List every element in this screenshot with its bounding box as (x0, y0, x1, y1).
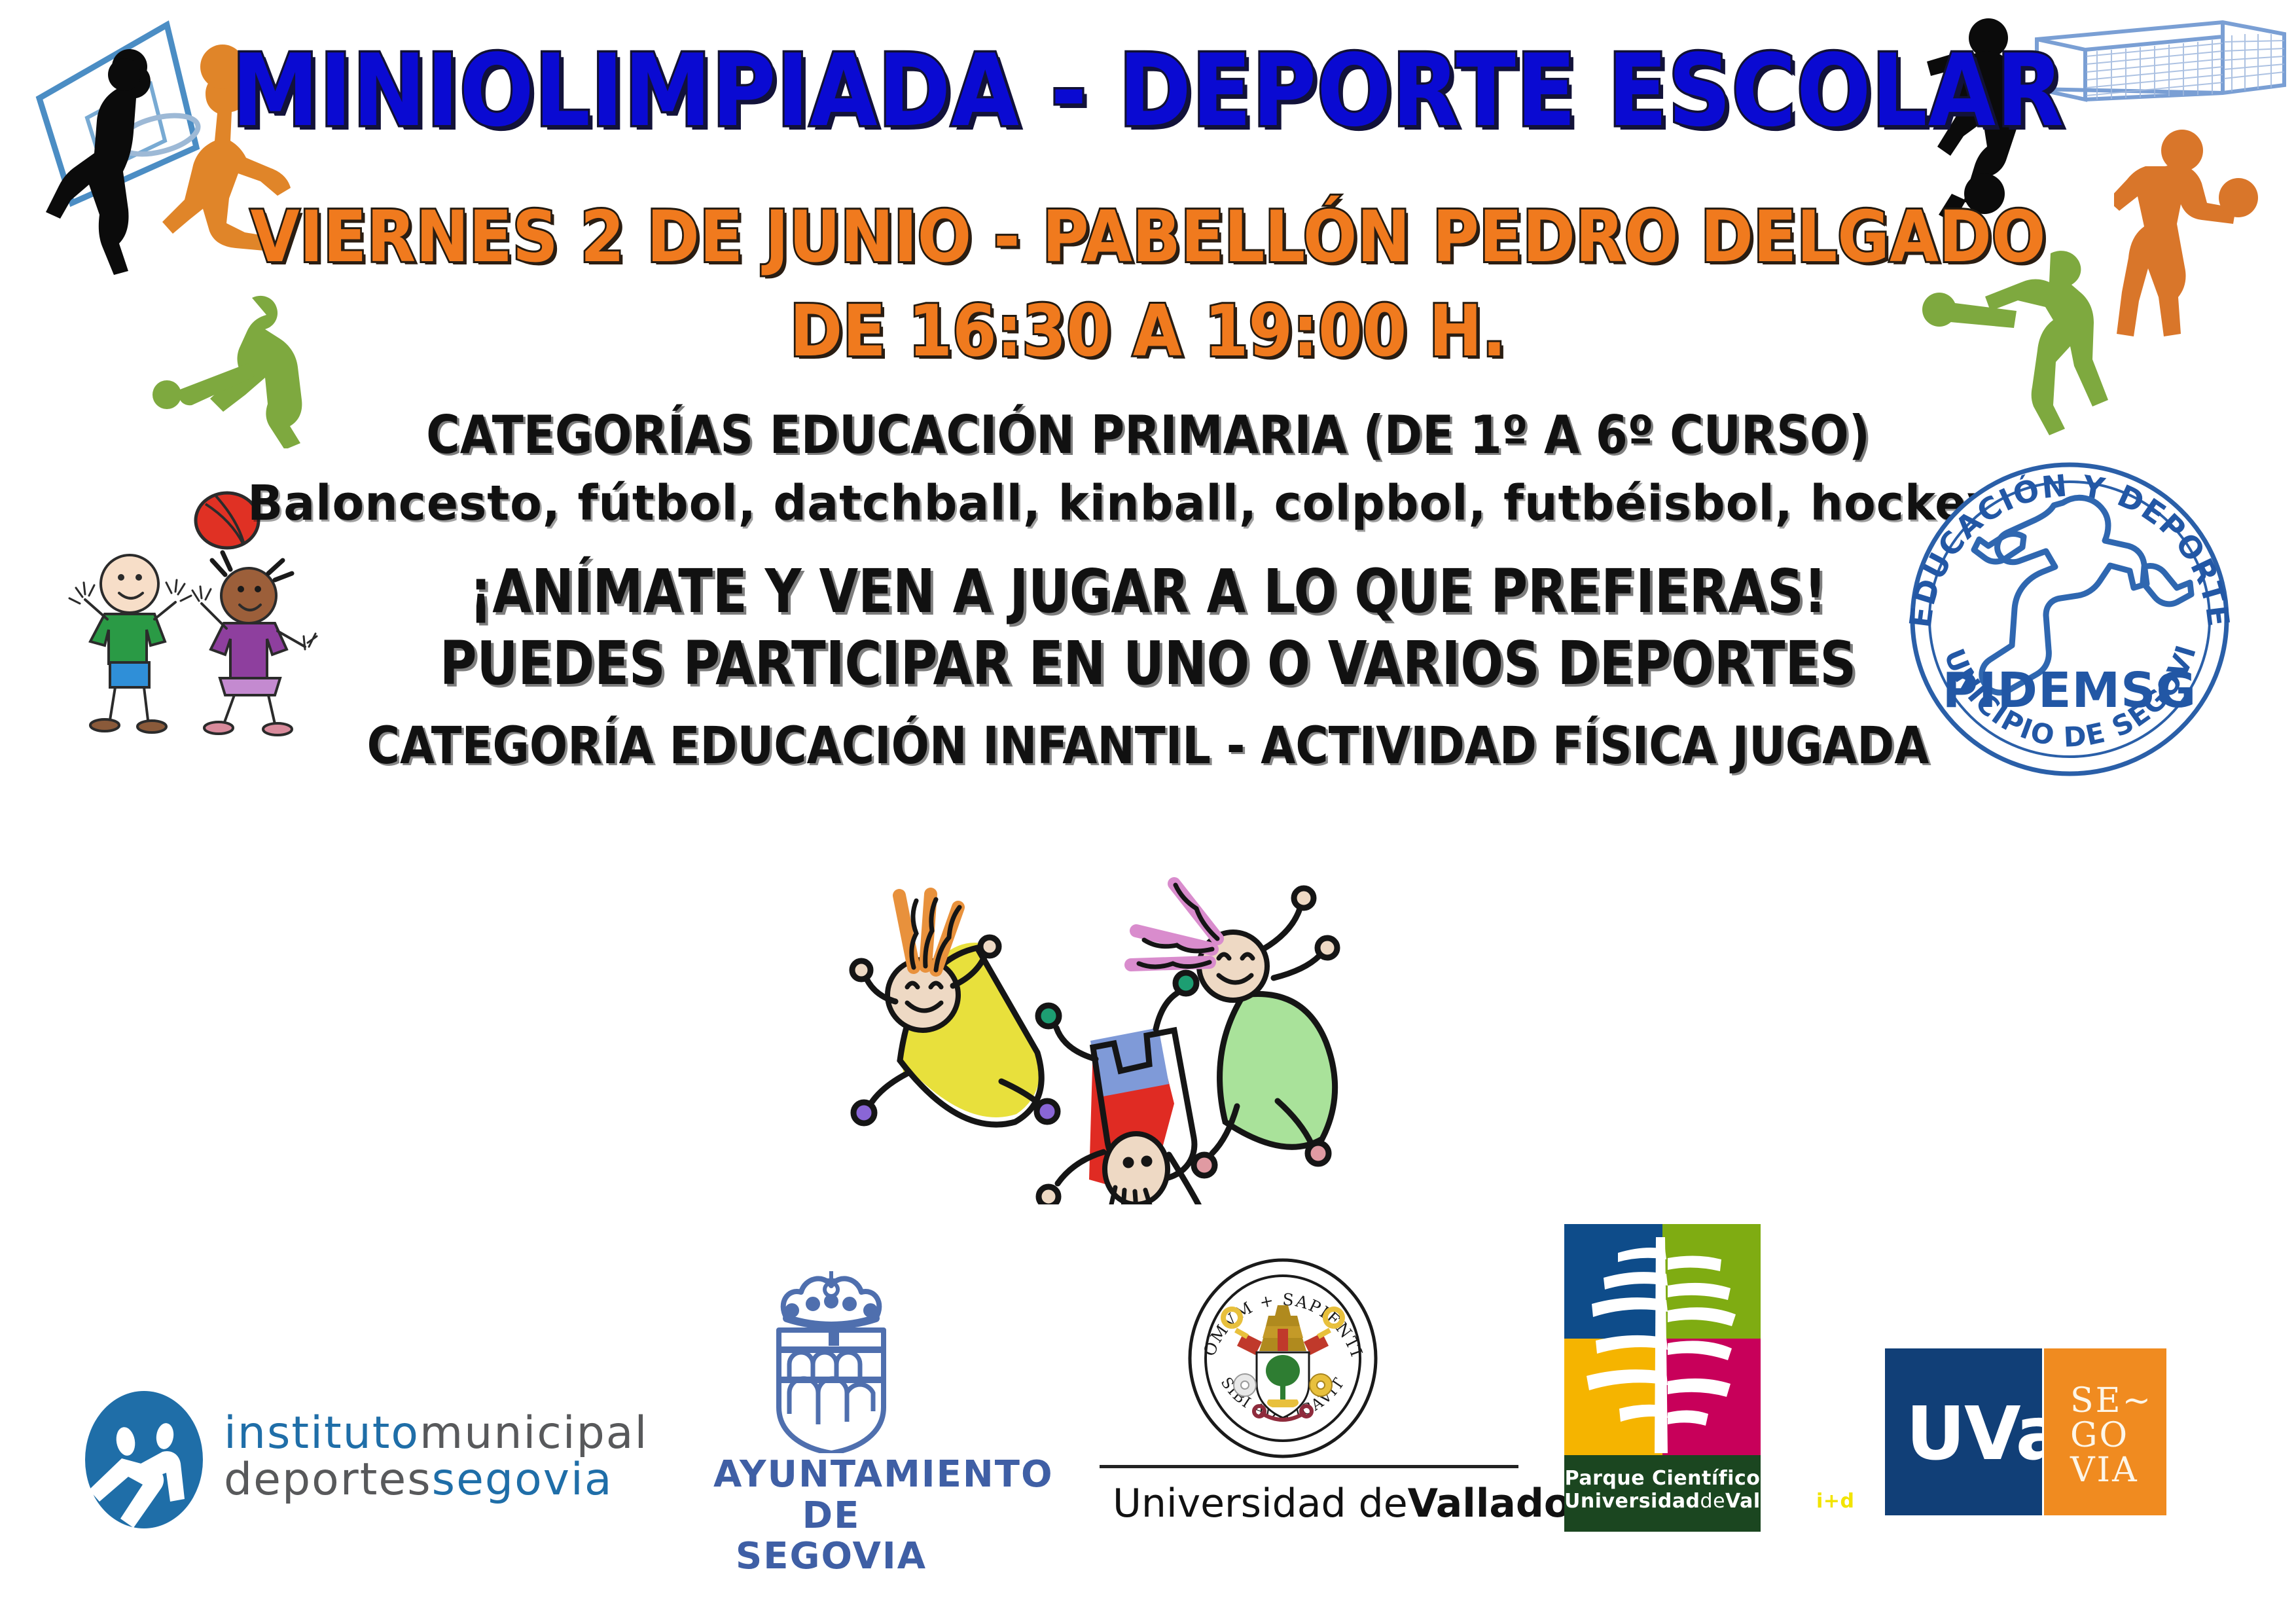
uva-segovia-segovia-label: SE~ GO VIA (2070, 1384, 2153, 1488)
uva-segovia-uva-label: UVa (1906, 1392, 2064, 1477)
imd-line1-instituto: instituto (224, 1407, 420, 1459)
sponsor-logo-row: institutomunicipal deportessegovia (0, 1218, 2296, 1623)
uva-segovia-seg-line2: GO (2070, 1418, 2153, 1453)
pc-line1: Parque Científico (1564, 1468, 1761, 1490)
ayuntamiento-line2: DE SEGOVIA (713, 1496, 949, 1578)
ayuntamiento-wordmark: AYUNTAMIENTO DE SEGOVIA (713, 1454, 949, 1578)
poster-canvas: MINIOLIMPIADA - DEPORTE ESCOLAR VIERNES … (0, 0, 2296, 1624)
category-infant-label: CATEGORÍA EDUCACIÓN INFANTIL - ACTIVIDAD… (137, 717, 2158, 776)
imd-line2-deportes: deportes (224, 1454, 432, 1506)
doodle-children (785, 799, 1374, 1204)
logo-uva-segovia: UVa SE~ GO VIA (1885, 1348, 2166, 1519)
event-date-venue: VIERNES 2 DE JUNIO - PABELLÓN PEDRO DELG… (115, 196, 2181, 278)
imd-wordmark: institutomunicipal deportessegovia (224, 1410, 648, 1504)
doodle-girl-yellow (852, 894, 1058, 1125)
pidemsg-center-label: PIDEMSG (1943, 662, 2197, 719)
uva-segovia-seg-line3: VIA (2070, 1453, 2153, 1488)
ayuntamiento-emblem-icon (740, 1263, 923, 1453)
call-to-action: ¡ANÍMATE Y VEN A JUGAR A LO QUE PREFIERA… (184, 556, 2113, 626)
logo-instituto-municipal-deportes-segovia: institutomunicipal deportessegovia (79, 1388, 628, 1532)
uva-segovia-seg-line1: SE~ (2070, 1384, 2153, 1418)
pidemsg-logo: EDUCACIÓN Y DEPORTE MUNICIPIO DE SEGOVIA… (1885, 445, 2251, 785)
logo-universidad-de-valladolid: DOMVM + SAPIENTIA SIBI ADIFICAVIT (1100, 1257, 1518, 1532)
pc-line2-a: Universidad (1564, 1490, 1700, 1513)
uva-wordmark-light: Universidad de (1113, 1481, 1408, 1526)
logo-parque-cientifico-uva: Parque Científico UniversidaddeValladoli… (1564, 1224, 1761, 1532)
page-title: MINIOLIMPIADA - DEPORTE ESCOLAR (137, 33, 2158, 149)
pc-line2-c: Valladol (1725, 1490, 1816, 1513)
imd-mark-icon (79, 1388, 209, 1532)
uva-divider-line (1100, 1465, 1518, 1468)
uva-segovia-orange-block: SE~ GO VIA (2044, 1348, 2166, 1515)
imd-line1-municipal: municipal (420, 1407, 648, 1459)
uva-seal-icon: DOMVM + SAPIENTIA SIBI ADIFICAVIT (1185, 1257, 1381, 1460)
doodle-child-upside-down (1038, 973, 1217, 1204)
ayuntamiento-line1: AYUNTAMIENTO (713, 1454, 949, 1496)
pc-line2-b: de (1700, 1490, 1726, 1513)
pc-line2-highlight: i+d (1816, 1490, 1854, 1513)
parque-cientifico-wordmark: Parque Científico UniversidaddeValladoli… (1564, 1468, 1761, 1513)
logo-ayuntamiento-de-segovia: AYUNTAMIENTO DE SEGOVIA (713, 1263, 949, 1525)
uva-wordmark: Universidad deValladolid (1113, 1481, 1626, 1526)
category-primary-label: CATEGORÍAS EDUCACIÓN PRIMARIA (DE 1º A 6… (137, 405, 2158, 465)
uva-segovia-navy-block: UVa (1885, 1348, 2042, 1515)
participation-note: PUEDES PARTICIPAR EN UNO O VARIOS DEPORT… (184, 628, 2113, 698)
event-time: DE 16:30 A 19:00 H. (115, 291, 2181, 372)
imd-line2-segovia: segovia (432, 1454, 613, 1506)
